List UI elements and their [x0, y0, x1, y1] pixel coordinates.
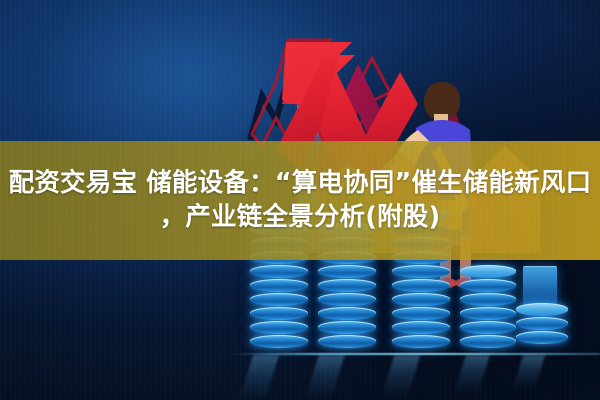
coin-stack-5: [516, 307, 568, 353]
title-line-2: ，产业链全景分析(附股): [160, 202, 441, 233]
floor-highlight: [230, 353, 600, 355]
title-block: 配资交易宝 储能设备：“算电协同”催生储能新风口 ，产业链全景分析(附股): [0, 141, 600, 260]
article-cover-image: 配资交易宝 储能设备：“算电协同”催生储能新风口 ，产业链全景分析(附股): [0, 0, 600, 400]
coin-stack-4: [460, 269, 516, 353]
person-hair: [424, 82, 460, 118]
title-line-1: 配资交易宝 储能设备：“算电协同”催生储能新风口: [9, 168, 592, 199]
